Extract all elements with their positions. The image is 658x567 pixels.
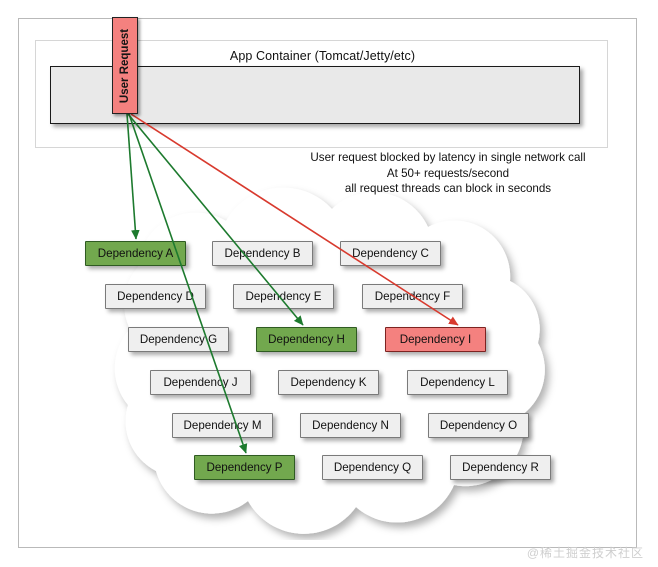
dependency-box-k[interactable]: Dependency K	[278, 370, 379, 395]
caption-line-2: At 50+ requests/second	[288, 166, 608, 182]
dependency-box-n[interactable]: Dependency N	[300, 413, 401, 438]
dependency-box-r[interactable]: Dependency R	[450, 455, 551, 480]
dependency-box-m[interactable]: Dependency M	[172, 413, 273, 438]
cloud-shape	[115, 188, 545, 534]
dependency-box-q[interactable]: Dependency Q	[322, 455, 423, 480]
dependency-box-label: Dependency I	[400, 333, 472, 346]
dependency-box-label: Dependency Q	[334, 461, 411, 474]
dependency-box-label: Dependency P	[206, 461, 282, 474]
dependency-box-label: Dependency R	[462, 461, 539, 474]
watermark: @稀土掘金技术社区	[527, 544, 644, 561]
dependency-box-label: Dependency O	[440, 419, 517, 432]
dependency-cloud	[20, 175, 640, 540]
dependency-box-j[interactable]: Dependency J	[150, 370, 251, 395]
dependency-box-o[interactable]: Dependency O	[428, 413, 529, 438]
dependency-box-label: Dependency B	[224, 247, 300, 260]
dependency-box-label: Dependency F	[375, 290, 450, 303]
user-request-bar[interactable]: User Request	[112, 17, 138, 114]
dependency-box-label: Dependency N	[312, 419, 389, 432]
dependency-box-d[interactable]: Dependency D	[105, 284, 206, 309]
dependency-box-label: Dependency D	[117, 290, 194, 303]
dependency-box-g[interactable]: Dependency G	[128, 327, 229, 352]
dependency-box-c[interactable]: Dependency C	[340, 241, 441, 266]
diagram-page: App Container (Tomcat/Jetty/etc) User re…	[0, 0, 658, 567]
caption-text: User request blocked by latency in singl…	[288, 150, 608, 197]
dependency-box-label: Dependency H	[268, 333, 345, 346]
dependency-box-p[interactable]: Dependency P	[194, 455, 295, 480]
dependency-box-f[interactable]: Dependency F	[362, 284, 463, 309]
dependency-box-label: Dependency C	[352, 247, 429, 260]
dependency-box-i[interactable]: Dependency I	[385, 327, 486, 352]
dependency-box-label: Dependency A	[98, 247, 173, 260]
caption-line-3: all request threads can block in seconds	[288, 181, 608, 197]
dependency-box-label: Dependency L	[420, 376, 495, 389]
dependency-box-label: Dependency M	[184, 419, 262, 432]
dependency-box-label: Dependency K	[290, 376, 366, 389]
dependency-box-h[interactable]: Dependency H	[256, 327, 357, 352]
dependency-box-a[interactable]: Dependency A	[85, 241, 186, 266]
user-request-label: User Request	[119, 28, 131, 102]
dependency-box-label: Dependency G	[140, 333, 217, 346]
dependency-box-l[interactable]: Dependency L	[407, 370, 508, 395]
dependency-box-label: Dependency J	[163, 376, 237, 389]
caption-line-1: User request blocked by latency in singl…	[288, 150, 608, 166]
dependency-box-b[interactable]: Dependency B	[212, 241, 313, 266]
dependency-box-e[interactable]: Dependency E	[233, 284, 334, 309]
dependency-box-label: Dependency E	[245, 290, 321, 303]
